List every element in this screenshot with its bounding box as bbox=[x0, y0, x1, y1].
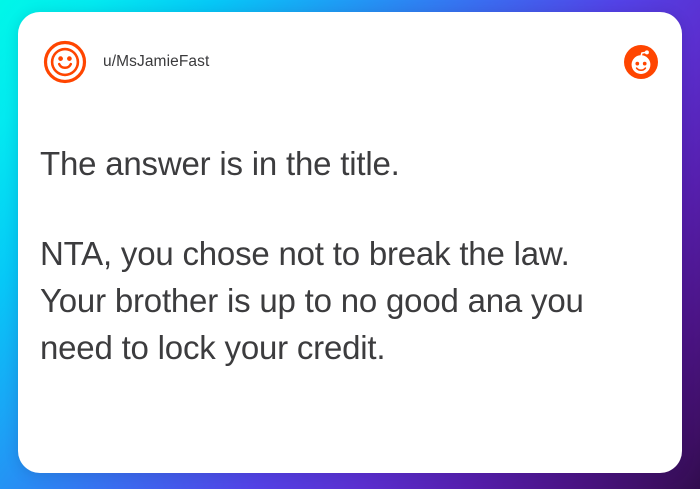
post-line: NTA, you chose not to break the law. bbox=[40, 230, 660, 277]
post-body-text: The answer is in the title. NTA, you cho… bbox=[40, 140, 660, 371]
post-line: The answer is in the title. bbox=[40, 140, 660, 187]
username-label: u/MsJamieFast bbox=[103, 53, 209, 71]
post-card: u/MsJamieFast The answer is in the title… bbox=[18, 12, 682, 473]
smiley-face-avatar-icon[interactable] bbox=[43, 40, 87, 84]
post-header: u/MsJamieFast bbox=[18, 12, 682, 112]
post-paragraph-1: The answer is in the title. bbox=[40, 140, 660, 187]
reddit-snoo-icon[interactable] bbox=[624, 45, 658, 79]
paragraph-gap bbox=[40, 187, 660, 230]
post-paragraph-2: NTA, you chose not to break the law. You… bbox=[40, 230, 660, 371]
post-line: need to lock your credit. bbox=[40, 324, 660, 371]
reddit-post-screenshot: u/MsJamieFast The answer is in the title… bbox=[0, 0, 700, 489]
post-line: Your brother is up to no good ana you bbox=[40, 277, 660, 324]
